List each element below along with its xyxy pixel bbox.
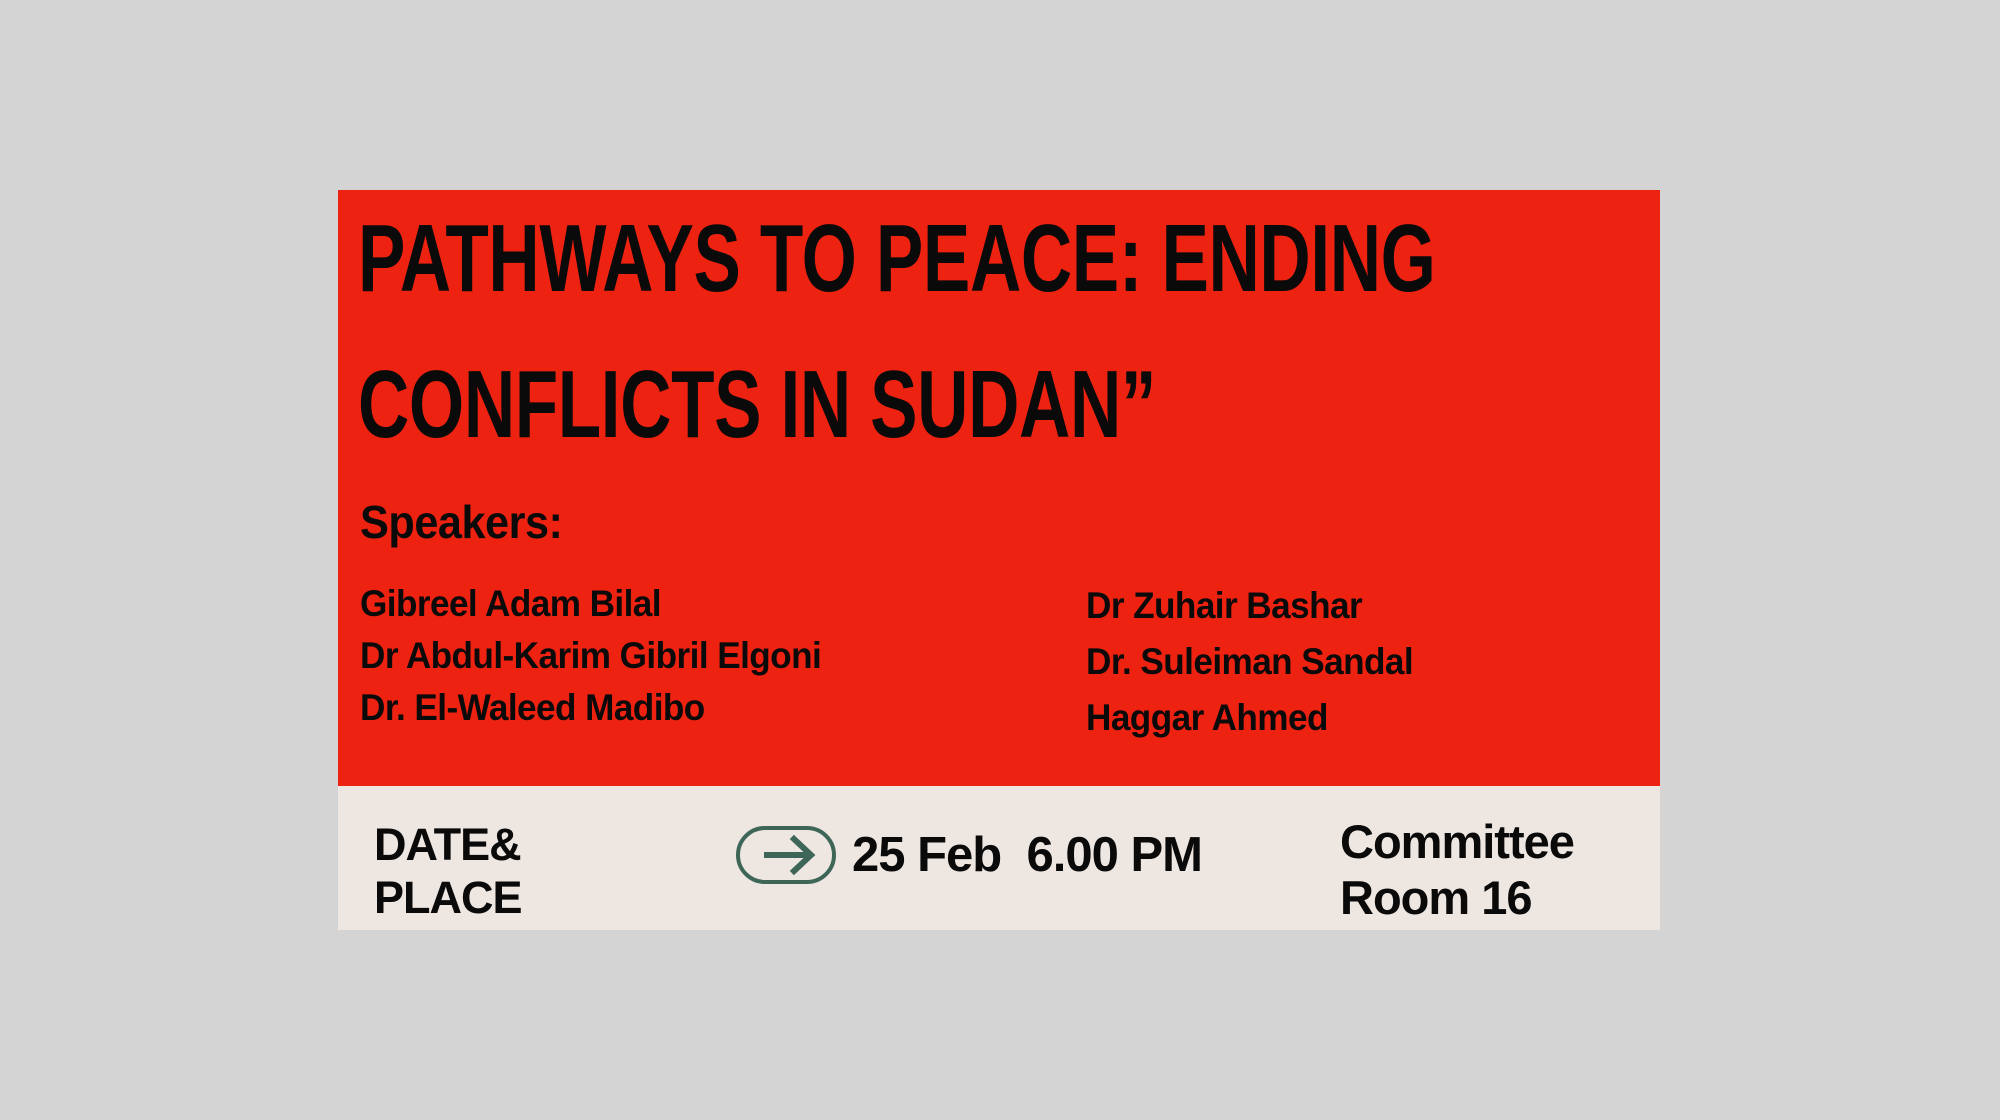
event-location-line-2: Room 16 — [1340, 870, 1574, 926]
date-place-label-line-2: PLACE — [374, 871, 522, 924]
poster-title-line-1: PATHWAYS TO PEACE: ENDING — [358, 190, 1313, 332]
poster-red-panel: PATHWAYS TO PEACE: ENDING CONFLICTS IN S… — [338, 190, 1660, 786]
speaker-name: Dr Zuhair Bashar — [1086, 578, 1413, 634]
speaker-name: Gibreel Adam Bilal — [360, 578, 821, 630]
speaker-name: Dr. Suleiman Sandal — [1086, 634, 1413, 690]
poster-title-line-2: CONFLICTS IN SUDAN” — [358, 332, 1313, 478]
event-location-line-1: Committee — [1340, 814, 1574, 870]
speaker-name: Dr. El-Waleed Madibo — [360, 682, 821, 734]
poster-title: PATHWAYS TO PEACE: ENDING CONFLICTS IN S… — [358, 190, 1313, 478]
event-when-group: 25 Feb 6.00 PM — [734, 824, 1202, 886]
poster-details-bar: DATE& PLACE 25 Feb 6.00 PM Committee Roo… — [338, 786, 1660, 930]
poster-canvas: PATHWAYS TO PEACE: ENDING CONFLICTS IN S… — [0, 0, 2000, 1120]
speaker-name: Dr Abdul-Karim Gibril Elgoni — [360, 630, 821, 682]
event-datetime: 25 Feb 6.00 PM — [852, 827, 1202, 883]
arrow-right-pill-icon — [734, 824, 838, 886]
speakers-column-left: Gibreel Adam Bilal Dr Abdul-Karim Gibril… — [360, 578, 845, 734]
event-poster-card: PATHWAYS TO PEACE: ENDING CONFLICTS IN S… — [338, 190, 1660, 930]
speakers-heading: Speakers: — [360, 495, 562, 549]
speaker-name: Haggar Ahmed — [1086, 690, 1413, 746]
event-location: Committee Room 16 — [1340, 814, 1574, 926]
date-place-label: DATE& PLACE — [374, 818, 522, 924]
speakers-column-right: Dr Zuhair Bashar Dr. Suleiman Sandal Hag… — [1086, 578, 1430, 746]
date-place-label-line-1: DATE& — [374, 818, 522, 871]
